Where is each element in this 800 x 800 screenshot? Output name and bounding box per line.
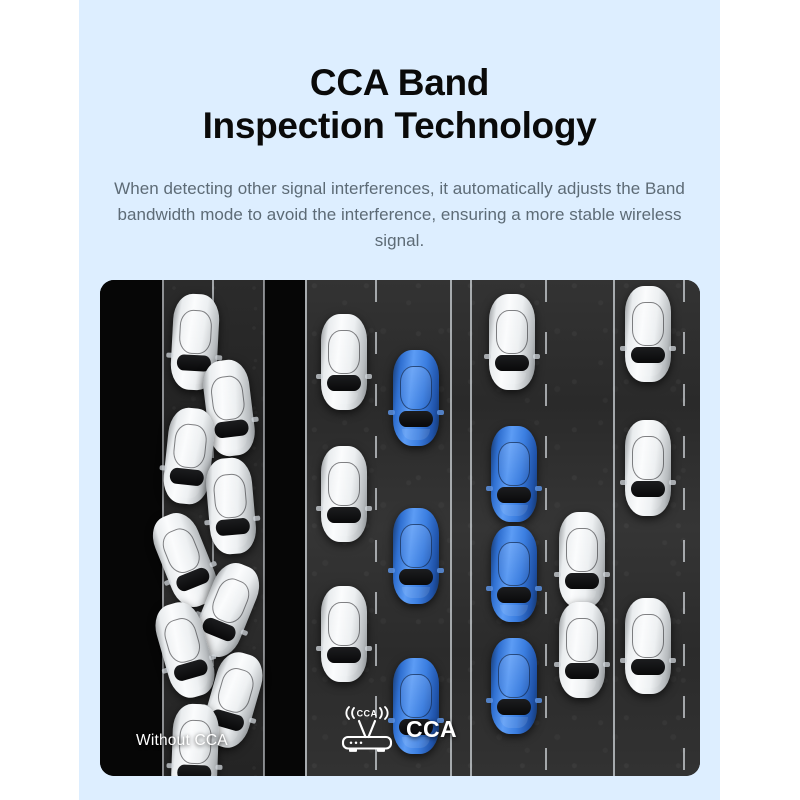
car-mirror-right [251, 416, 259, 422]
car-windshield [177, 764, 212, 776]
car-roof [400, 524, 432, 568]
car-mirror-right [365, 646, 372, 651]
car-windshield [631, 659, 665, 675]
lane-dash-line [683, 280, 685, 776]
wifi-router-icon: CCA [337, 702, 397, 756]
car-white [321, 586, 367, 682]
car-roof [328, 602, 360, 646]
svg-text:CCA: CCA [357, 709, 378, 719]
car-roof [566, 528, 598, 572]
car-mirror-right [215, 765, 222, 770]
car-mirror-left [554, 572, 561, 577]
car-windshield [497, 587, 531, 603]
illustration-card: Without CCA CCA [100, 280, 700, 776]
car-mirror-left [166, 763, 173, 768]
car-roof [400, 366, 432, 410]
car-mirror-right [365, 374, 372, 379]
label-without-cca: Without CCA [136, 732, 228, 750]
page-title: CCA Band Inspection Technology [79, 62, 720, 148]
content-column: CCA Band Inspection Technology When dete… [79, 0, 720, 800]
page-subtitle: When detecting other signal interference… [99, 176, 700, 253]
car-mirror-right [535, 486, 542, 491]
car-windshield [215, 517, 250, 536]
title-line-1: CCA Band [79, 62, 720, 105]
car-white [204, 456, 258, 556]
car-mirror-right [603, 662, 610, 667]
car-white [625, 598, 671, 694]
car-windshield [399, 569, 433, 585]
car-mirror-right [533, 354, 540, 359]
car-mirror-right [253, 516, 260, 522]
car-roof [496, 310, 528, 354]
car-windshield [169, 467, 204, 486]
car-mirror-right [535, 586, 542, 591]
car-white [489, 294, 535, 390]
lane-solid-line [613, 280, 615, 776]
car-roof [212, 473, 248, 520]
car-mirror-left [486, 486, 493, 491]
car-mirror-right [603, 572, 610, 577]
car-mirror-left [316, 506, 323, 511]
car-mirror-right [669, 480, 676, 485]
car-mirror-left [388, 568, 395, 573]
car-blue [491, 426, 537, 522]
title-line-2: Inspection Technology [79, 105, 720, 148]
car-mirror-left [388, 410, 395, 415]
car-mirror-right [669, 346, 676, 351]
car-blue [491, 526, 537, 622]
car-blue [393, 350, 439, 446]
car-windshield [565, 663, 599, 679]
car-mirror-left [486, 586, 493, 591]
car-mirror-left [166, 353, 173, 358]
car-roof [328, 330, 360, 374]
car-windshield [327, 375, 361, 391]
car-roof [328, 462, 360, 506]
car-roof [498, 442, 530, 486]
car-roof [632, 302, 664, 346]
car-mirror-left [484, 354, 491, 359]
car-mirror-right [437, 410, 444, 415]
page-root: CCA Band Inspection Technology When dete… [0, 0, 800, 800]
car-white [625, 420, 671, 516]
car-roof [632, 436, 664, 480]
car-roof [178, 309, 212, 355]
car-windshield [495, 355, 529, 371]
lane-solid-line [305, 280, 307, 776]
cca-legend: CCA CCA [337, 702, 457, 756]
car-roof [632, 614, 664, 658]
car-mirror-right [535, 698, 542, 703]
car-mirror-right [437, 568, 444, 573]
car-mirror-left [159, 465, 166, 471]
car-mirror-left [204, 520, 211, 526]
lane-solid-line [470, 280, 472, 776]
car-windshield [631, 481, 665, 497]
car-roof [498, 654, 530, 698]
label-cca: CCA [406, 716, 457, 743]
car-mirror-left [620, 658, 627, 663]
car-white [321, 314, 367, 410]
road-edge-line-right [263, 280, 265, 776]
car-windshield [497, 487, 531, 503]
car-windshield [327, 647, 361, 663]
car-mirror-left [620, 480, 627, 485]
car-windshield [565, 573, 599, 589]
car-windshield [497, 699, 531, 715]
car-white [625, 286, 671, 382]
car-mirror-left [486, 698, 493, 703]
car-mirror-left [620, 346, 627, 351]
car-roof [566, 618, 598, 662]
car-mirror-right [669, 658, 676, 663]
car-blue [393, 508, 439, 604]
car-mirror-left [316, 374, 323, 379]
car-windshield [399, 411, 433, 427]
lane-dash-line [545, 280, 547, 776]
car-mirror-left [316, 646, 323, 651]
car-windshield [327, 507, 361, 523]
car-blue [491, 638, 537, 734]
car-mirror-right [365, 506, 372, 511]
car-windshield [631, 347, 665, 363]
car-white [321, 446, 367, 542]
car-roof [498, 542, 530, 586]
car-white [559, 602, 605, 698]
panel-without-cca [100, 280, 300, 776]
title-text: CCA Band Inspection Technology [79, 62, 720, 148]
car-mirror-left [554, 662, 561, 667]
car-white [559, 512, 605, 608]
